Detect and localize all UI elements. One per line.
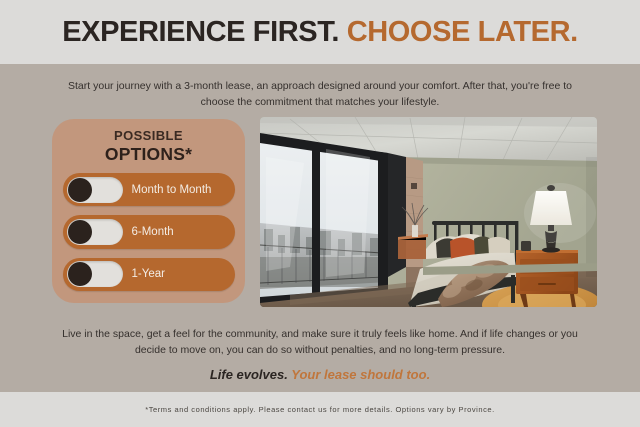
toggle-switch[interactable] xyxy=(67,219,123,245)
lease-option-6-month[interactable]: 6-Month xyxy=(63,215,235,248)
lease-option-label: Month to Month xyxy=(132,184,212,196)
card-title-large: OPTIONS* xyxy=(105,144,192,164)
lease-option-label: 1-Year xyxy=(132,268,165,280)
toggle-knob-icon xyxy=(68,220,92,244)
card-title-small: POSSIBLE xyxy=(114,129,183,144)
toggle-knob-icon xyxy=(68,178,92,202)
header-band: EXPERIENCE FIRST. CHOOSE LATER. xyxy=(0,0,640,64)
toggle-knob-icon xyxy=(68,262,92,286)
toggle-switch[interactable] xyxy=(67,261,123,287)
body-band: Start your journey with a 3-month lease,… xyxy=(0,64,640,392)
footer-band: *Terms and conditions apply. Please cont… xyxy=(0,392,640,427)
tagline-accent-part: Your lease should too. xyxy=(291,367,430,382)
lease-option-label: 6-Month xyxy=(132,226,174,238)
page-title: EXPERIENCE FIRST. CHOOSE LATER. xyxy=(62,18,578,47)
lease-option-1-year[interactable]: 1-Year xyxy=(63,258,235,291)
toggle-switch[interactable] xyxy=(67,177,123,203)
lease-option-month-to-month[interactable]: Month to Month xyxy=(63,173,235,206)
poster-canvas: EXPERIENCE FIRST. CHOOSE LATER. Start yo… xyxy=(0,0,640,427)
tagline: Life evolves. Your lease should too. xyxy=(0,367,640,382)
headline-accent-part: CHOOSE LATER. xyxy=(347,16,578,48)
tagline-dark-part: Life evolves. xyxy=(210,367,288,382)
footer-disclaimer: *Terms and conditions apply. Please cont… xyxy=(145,405,495,414)
headline-dark-part: EXPERIENCE FIRST. xyxy=(62,16,339,48)
possible-options-card: POSSIBLE OPTIONS* Month to Month 6-Month… xyxy=(52,119,245,303)
lower-paragraph: Live in the space, get a feel for the co… xyxy=(56,326,584,359)
bedroom-photo-illustration xyxy=(260,117,597,307)
intro-paragraph: Start your journey with a 3-month lease,… xyxy=(56,78,584,111)
bedroom-photo xyxy=(260,117,597,307)
